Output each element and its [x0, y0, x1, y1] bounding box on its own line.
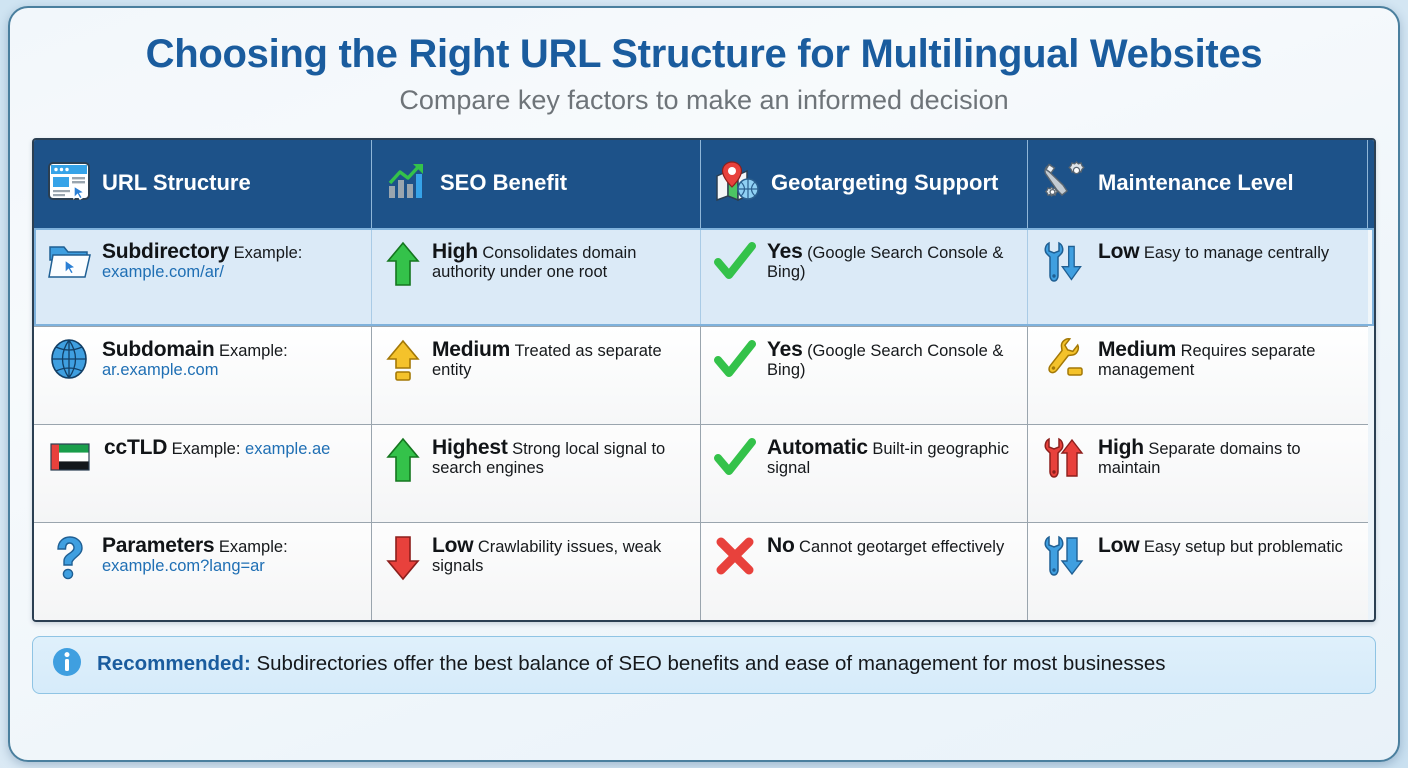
- cell-url-structure: Subdirectory Example: example.com/ar/: [34, 228, 372, 326]
- seo-rating: Medium: [432, 338, 510, 361]
- seo-rating: Low: [432, 534, 473, 557]
- bar-chart-growth-icon: [385, 161, 429, 206]
- info-circle-icon: [51, 646, 83, 683]
- cell-url-structure: Subdomain Example: ar.example.com: [34, 326, 372, 424]
- infographic-poster: Choosing the Right URL Structure for Mul…: [8, 6, 1400, 762]
- check-green-icon: [714, 240, 756, 289]
- seo-rating: Highest: [432, 436, 508, 459]
- example-url[interactable]: ar.example.com: [102, 361, 218, 379]
- table-header-row: URL Structure SEO Benefit: [34, 140, 1374, 228]
- example-url[interactable]: example.com?lang=ar: [102, 557, 357, 577]
- wrench-arrow-up-red-icon: [1041, 436, 1087, 487]
- comparison-table: URL Structure SEO Benefit: [32, 138, 1376, 622]
- wrench-arrow-down-blue-icon: [1041, 240, 1087, 291]
- column-header-seo-benefit: SEO Benefit: [372, 140, 701, 228]
- wrench-gear-icon: [1041, 160, 1087, 207]
- column-header-label: URL Structure: [102, 171, 251, 196]
- geo-rating: Yes: [767, 240, 803, 263]
- cell-maintenance: Medium Requires separate management: [1028, 326, 1368, 424]
- geo-rating: No: [767, 534, 795, 557]
- column-header-label: Maintenance Level: [1098, 171, 1294, 196]
- wrench-arrow-down-blue-icon: [1041, 534, 1087, 585]
- maintenance-rating: Low: [1098, 534, 1139, 557]
- recommendation-body: Subdirectories offer the best balance of…: [251, 652, 1166, 675]
- wrench-yellow-icon: [1041, 338, 1087, 389]
- arrow-up-green-icon: [385, 240, 421, 293]
- page-title: Choosing the Right URL Structure for Mul…: [32, 32, 1376, 76]
- cell-seo-benefit: Highest Strong local signal to search en…: [372, 424, 701, 522]
- recommendation-banner: Recommended: Subdirectories offer the be…: [32, 636, 1376, 694]
- structure-name: ccTLD: [104, 436, 167, 459]
- cell-seo-benefit: Low Crawlability issues, weak signals: [372, 522, 701, 620]
- cell-geotargeting: Yes (Google Search Console & Bing): [701, 326, 1028, 424]
- maintenance-rating: High: [1098, 436, 1144, 459]
- arrow-up-yellow-dashed-icon: [385, 338, 421, 391]
- column-header-label: Geotargeting Support: [771, 171, 998, 196]
- page-subtitle: Compare key factors to make an informed …: [32, 86, 1376, 116]
- structure-name: Subdirectory: [102, 240, 229, 263]
- cross-red-icon: [714, 534, 756, 583]
- maintenance-rating: Medium: [1098, 338, 1176, 361]
- cell-geotargeting: Automatic Built-in geographic signal: [701, 424, 1028, 522]
- geo-detail: (Google Search Console & Bing): [767, 342, 1003, 380]
- geo-detail: Cannot geotarget effectively: [799, 538, 1004, 556]
- browser-window-icon: [47, 161, 91, 206]
- maintenance-rating: Low: [1098, 240, 1139, 263]
- maintenance-detail: Easy setup but problematic: [1144, 538, 1343, 556]
- cell-url-structure: Parameters Example:example.com?lang=ar: [34, 522, 372, 620]
- arrow-up-green-icon: [385, 436, 421, 489]
- example-label: Example:: [219, 538, 288, 556]
- globe-blue-icon: [47, 338, 91, 385]
- seo-rating: High: [432, 240, 478, 263]
- maintenance-detail: Easy to manage centrally: [1144, 244, 1329, 262]
- table-row[interactable]: Subdomain Example: ar.example.com Medium…: [34, 326, 1374, 424]
- recommendation-text: Recommended: Subdirectories offer the be…: [97, 652, 1165, 677]
- cell-seo-benefit: Medium Treated as separate entity: [372, 326, 701, 424]
- table-row[interactable]: ccTLD Example: example.ae Highest Strong…: [34, 424, 1374, 522]
- column-header-label: SEO Benefit: [440, 171, 567, 196]
- column-header-maintenance-level: Maintenance Level: [1028, 140, 1368, 228]
- recommendation-label: Recommended:: [97, 652, 251, 675]
- structure-example: Example: example.ae: [172, 440, 331, 458]
- cell-maintenance: Low Easy setup but problematic: [1028, 522, 1368, 620]
- poster-header: Choosing the Right URL Structure for Mul…: [32, 24, 1376, 116]
- map-pin-globe-icon: [714, 160, 760, 207]
- check-green-icon: [714, 436, 756, 485]
- example-url[interactable]: example.ae: [245, 440, 330, 458]
- example-label: Example:: [172, 440, 245, 458]
- geo-rating: Yes: [767, 338, 803, 361]
- geo-rating: Automatic: [767, 436, 868, 459]
- structure-name: Parameters: [102, 534, 214, 557]
- cell-seo-benefit: High Consolidates domain authority under…: [372, 228, 701, 326]
- check-green-icon: [714, 338, 756, 387]
- open-folder-cursor-icon: [47, 240, 91, 285]
- arrow-down-red-icon: [385, 534, 421, 587]
- example-label: Example:: [234, 244, 303, 262]
- structure-name: Subdomain: [102, 338, 215, 361]
- column-header-url-structure: URL Structure: [34, 140, 372, 228]
- example-label: Example:: [219, 342, 288, 360]
- question-mark-blue-icon: [47, 534, 91, 585]
- column-header-geotargeting-support: Geotargeting Support: [701, 140, 1028, 228]
- cell-url-structure: ccTLD Example: example.ae: [34, 424, 372, 522]
- cell-maintenance: High Separate domains to maintain: [1028, 424, 1368, 522]
- table-row[interactable]: Parameters Example:example.com?lang=ar L…: [34, 522, 1374, 620]
- cell-geotargeting: No Cannot geotarget effectively: [701, 522, 1028, 620]
- uae-flag-icon: [47, 436, 93, 481]
- table-row[interactable]: Subdirectory Example: example.com/ar/ Hi…: [34, 228, 1374, 326]
- example-url[interactable]: example.com/ar/: [102, 263, 224, 281]
- cell-geotargeting: Yes (Google Search Console & Bing): [701, 228, 1028, 326]
- geo-detail: (Google Search Console & Bing): [767, 244, 1003, 282]
- cell-maintenance: Low Easy to manage centrally: [1028, 228, 1368, 326]
